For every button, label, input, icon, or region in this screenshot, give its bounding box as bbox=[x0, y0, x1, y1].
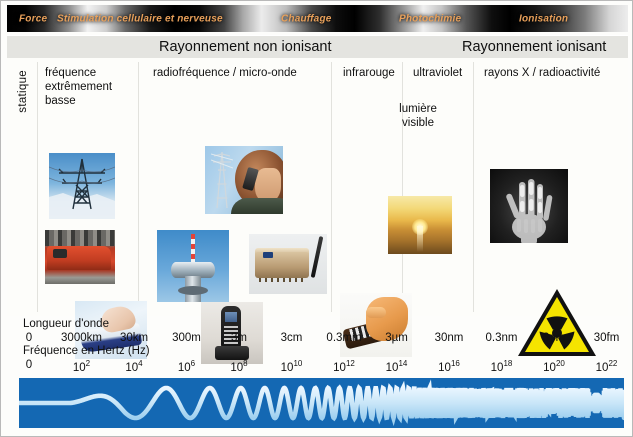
effect-label-ionisation: Ionisation bbox=[519, 13, 568, 24]
power-pylon-photo bbox=[49, 153, 115, 219]
effect-label-photochimie: Photochimie bbox=[399, 13, 461, 24]
frequency-tick: 1016 bbox=[438, 359, 460, 374]
electric-train-photo bbox=[45, 230, 115, 284]
wavelength-tick: 3m bbox=[231, 332, 247, 344]
header-non-ionising: Rayonnement non ionisant bbox=[159, 39, 332, 55]
frequency-tick: 102 bbox=[73, 359, 90, 374]
effect-label-force: Force bbox=[19, 13, 47, 24]
scale-axes: Longueur d'onde Fréquence en Hertz (Hz) … bbox=[7, 318, 628, 376]
frequency-tick: 108 bbox=[230, 359, 247, 374]
sunset-photo bbox=[388, 196, 452, 254]
effect-label-stimulation: Stimulation cellulaire et nerveuse bbox=[57, 13, 223, 24]
frequency-tick: 1022 bbox=[596, 359, 618, 374]
frequency-tick: 1010 bbox=[281, 359, 303, 374]
frequency-tick: 1012 bbox=[333, 359, 355, 374]
wavelength-tick: 3µm bbox=[385, 332, 408, 344]
frequency-tick: 1018 bbox=[491, 359, 513, 374]
wifi-router-photo bbox=[249, 234, 327, 294]
column-divider bbox=[331, 62, 332, 312]
broadcast-tower-photo bbox=[157, 230, 229, 302]
wavelength-tick: 3pm bbox=[543, 332, 565, 344]
spectrum-panel: statique fréquence extrêmement basse rad… bbox=[7, 58, 628, 316]
hand-xray-photo bbox=[490, 169, 568, 243]
frequency-tick: 0 bbox=[26, 359, 32, 371]
wavelength-tick: 0.3nm bbox=[486, 332, 518, 344]
frequency-tick: 106 bbox=[178, 359, 195, 374]
wavelength-tick: 0 bbox=[26, 332, 32, 344]
wavelength-tick: 0.3mm bbox=[326, 332, 361, 344]
category-label-elf: fréquence extrêmement basse bbox=[45, 66, 141, 108]
radiation-type-header: Rayonnement non ionisant Rayonnement ion… bbox=[7, 35, 628, 58]
effect-label-chauffage: Chauffage bbox=[281, 13, 332, 24]
wavelength-axis-title: Longueur d'onde bbox=[23, 318, 109, 330]
category-label-visible: lumière visible bbox=[388, 102, 448, 130]
category-label-static: statique bbox=[17, 70, 29, 113]
wavelength-tick: 3cm bbox=[281, 332, 303, 344]
column-divider bbox=[37, 62, 38, 312]
header-ionising: Rayonnement ionisant bbox=[462, 39, 606, 55]
column-divider bbox=[402, 62, 403, 312]
wavelength-tick: 300m bbox=[172, 332, 201, 344]
wavelength-tick: 30nm bbox=[435, 332, 464, 344]
frequency-tick: 1014 bbox=[386, 359, 408, 374]
mobile-phone-user-photo bbox=[205, 146, 283, 214]
frequency-tick: 1020 bbox=[543, 359, 565, 374]
biological-effects-band: Force Stimulation cellulaire et nerveuse… bbox=[7, 5, 628, 32]
column-divider bbox=[473, 62, 474, 312]
frequency-axis-title: Fréquence en Hertz (Hz) bbox=[23, 345, 150, 357]
category-label-infrared: infrarouge bbox=[343, 66, 395, 80]
wavelength-tick: 3000km bbox=[61, 332, 102, 344]
category-label-rf: radiofréquence / micro-onde bbox=[153, 66, 343, 80]
category-label-ultraviolet: ultraviolet bbox=[413, 66, 462, 80]
category-label-xray: rayons X / radioactivité bbox=[484, 66, 600, 80]
wavelength-tick: 30km bbox=[120, 332, 148, 344]
electromagnetic-wave-graphic bbox=[19, 378, 624, 428]
frequency-tick: 104 bbox=[125, 359, 142, 374]
wavelength-tick: 30fm bbox=[594, 332, 620, 344]
em-spectrum-poster: Force Stimulation cellulaire et nerveuse… bbox=[0, 0, 633, 437]
